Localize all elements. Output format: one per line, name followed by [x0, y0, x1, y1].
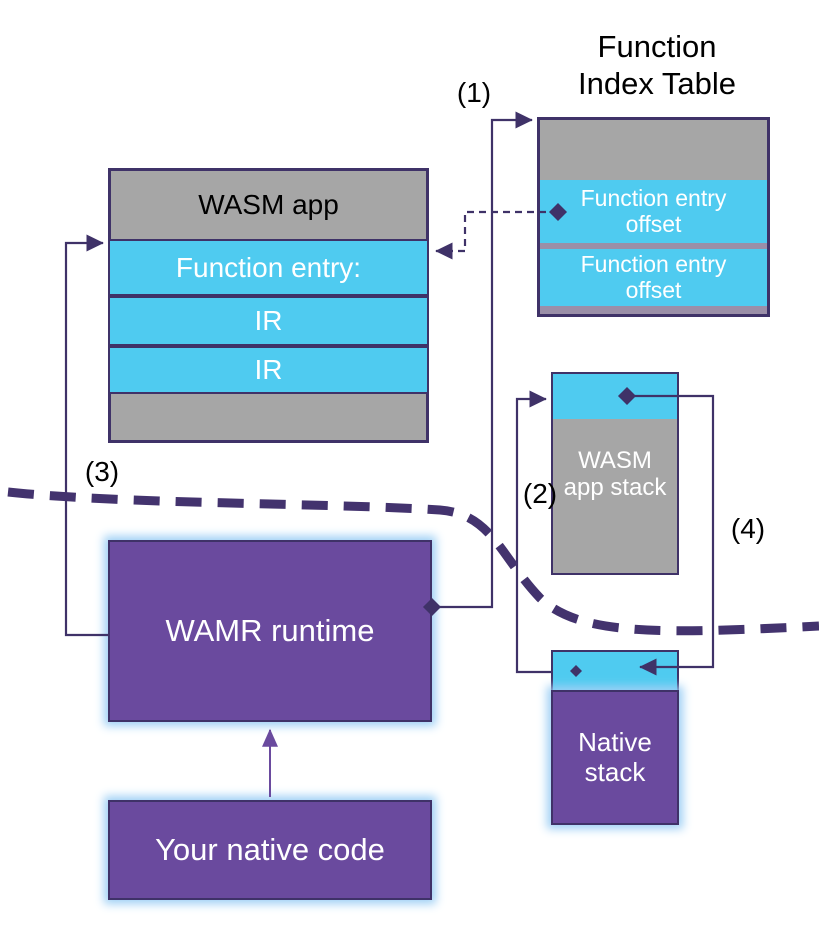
step-marker-1: (1): [446, 76, 502, 110]
fit-title-line-1: Function: [512, 28, 802, 65]
wasm-app-header-band: [111, 171, 426, 239]
step-marker-4: (4): [720, 512, 776, 546]
wasm-app-row-ir-1[interactable]: [108, 296, 429, 346]
your-native-code-box[interactable]: [108, 800, 432, 900]
native-stack-box[interactable]: [551, 690, 679, 825]
fit-entry-band-2[interactable]: [540, 249, 767, 306]
connector-1-runtime-to-index-table: [432, 120, 532, 607]
fit-header-band: [540, 120, 767, 180]
function-index-table-title: Function Index Table: [512, 28, 802, 102]
wasm-app-stack-top-band[interactable]: [553, 374, 677, 419]
step-marker-2: (2): [512, 477, 568, 511]
connector-2-to-wasm-app-stack: [517, 399, 553, 672]
wasm-app-row-ir-2[interactable]: [108, 346, 429, 394]
wasm-app-row-function-entry[interactable]: [108, 239, 429, 296]
step-marker-3: (3): [74, 455, 130, 489]
fit-entry-band-1[interactable]: [540, 180, 767, 243]
wamr-runtime-box[interactable]: [108, 540, 432, 722]
connector-3-runtime-to-wasm-app: [66, 243, 108, 635]
wasm-app-footer-band: [111, 394, 426, 440]
native-stack-top-band[interactable]: [551, 650, 679, 692]
diagram-canvas: Function Index Table Function entry offs…: [0, 0, 819, 925]
fit-title-line-2: Index Table: [512, 65, 802, 102]
